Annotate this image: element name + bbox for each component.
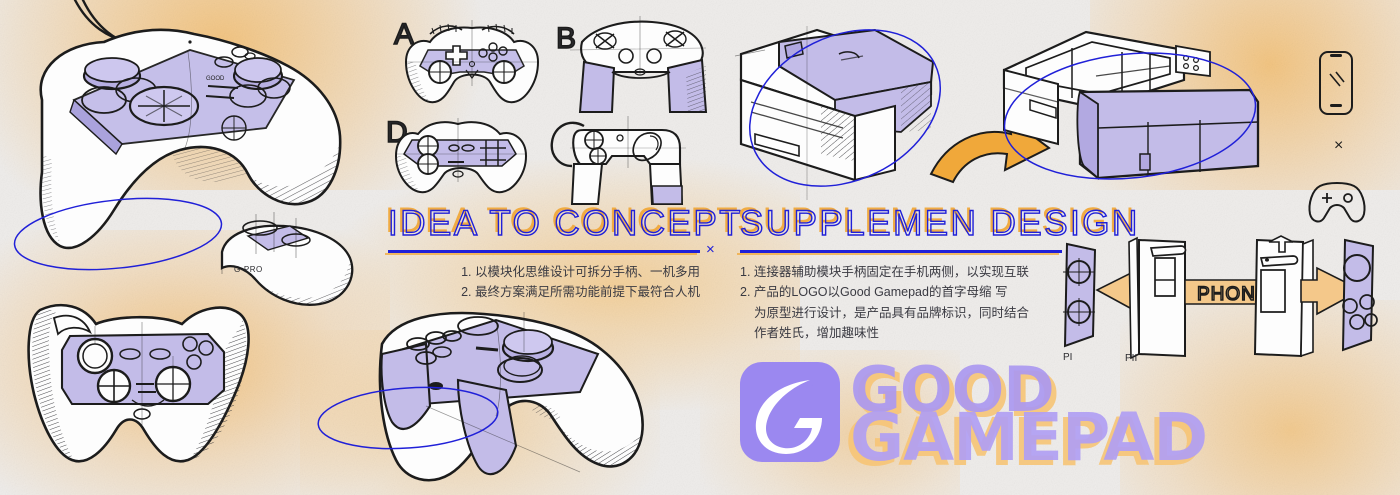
logo-mark-tile <box>740 362 840 462</box>
sketch-dock-box-exploded <box>1000 18 1270 203</box>
sketch-thumb-b: B <box>556 14 716 116</box>
supplement-rule <box>740 250 1062 253</box>
supplement-headline: SUPPLEMEN DESIGN <box>740 206 1062 241</box>
idea-headline: IDEA TO CONCEPT <box>388 206 700 241</box>
section-supplement-design: SUPPLEMEN DESIGN 1. 连接器辅助模块手柄固定在手机两侧，以实现… <box>740 206 1062 343</box>
g-wing-monogram-icon <box>740 362 840 462</box>
diagram-phone-mount-assembly: PI PII PHONE <box>1045 228 1385 368</box>
section-separator-multiply-icon: × <box>706 241 715 258</box>
formula-gamepad-icon <box>1304 178 1370 226</box>
sketch-thumb-a: A <box>392 14 552 116</box>
idea-bullet-2: 2. 最终方案满足所需功能前提下最符合人机 <box>388 282 700 302</box>
grip-brand-label: G-PRO <box>234 265 263 274</box>
formula-phone-icon <box>1312 48 1360 120</box>
idea-bullet-1: 1. 以模块化思维设计可拆分手柄、一机多用 <box>388 262 700 282</box>
supplement-bullet-list: 1. 连接器辅助模块手柄固定在手机两侧，以实现互联 2. 产品的LOGO以Goo… <box>740 262 1062 343</box>
supplement-bullet-2-cont-1: 为原型进行设计，是产品具有品牌标识，同时结合 <box>740 303 1062 323</box>
sketch-front-view-controller <box>18 292 268 477</box>
design-board: GOOD G-PRO <box>0 0 1400 495</box>
sketch-perspective-controller <box>330 296 670 495</box>
supplement-bullet-2: 2. 产品的LOGO以Good Gamepad的首字母缩 写 <box>740 282 1062 302</box>
supplement-bullet-1: 1. 连接器辅助模块手柄固定在手机两侧，以实现互联 <box>740 262 1062 282</box>
idea-bullet-list: 1. 以模块化思维设计可拆分手柄、一机多用 2. 最终方案满足所需功能前提下最符… <box>388 262 700 303</box>
brand-logo-lockup: GOOD GAMEPAD <box>740 362 1207 467</box>
section-idea-to-concept: IDEA TO CONCEPT 1. 以模块化思维设计可拆分手柄、一机多用 2.… <box>388 206 700 303</box>
svg-text:GOOD: GOOD <box>206 76 225 82</box>
supplement-bullet-2-cont-2: 作者姓氏，增加趣味性 <box>740 323 1062 343</box>
sketch-thumb-c <box>540 108 710 210</box>
formula-multiply-icon: × <box>1334 137 1343 155</box>
logo-word-gamepad: GAMEPAD <box>850 408 1207 467</box>
sketch-thumb-d: D <box>386 110 546 206</box>
logo-wordmark: GOOD GAMEPAD <box>850 362 1207 467</box>
idea-rule <box>388 250 700 253</box>
